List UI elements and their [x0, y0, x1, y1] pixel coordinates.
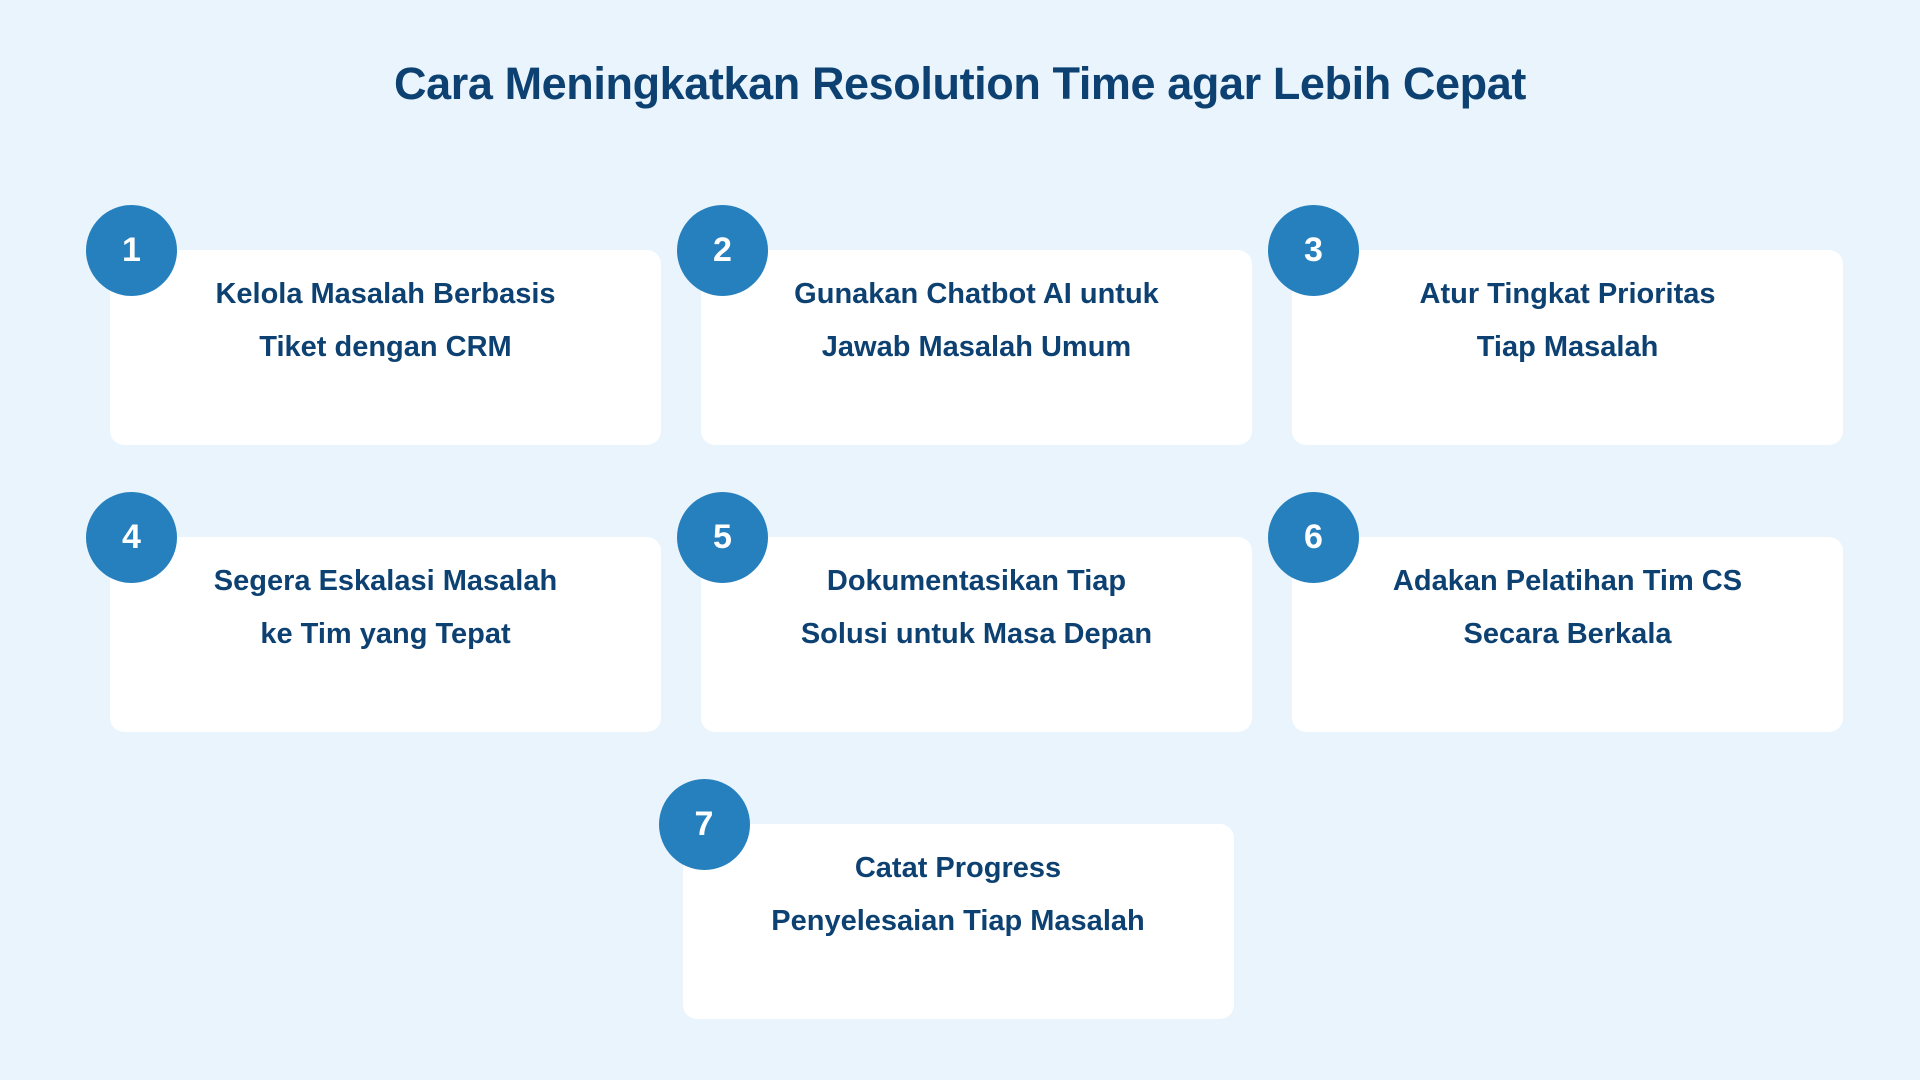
- card-label-line-2: Jawab Masalah Umum: [735, 321, 1218, 374]
- card-number-badge: 6: [1268, 492, 1359, 583]
- card-label-line-1: Gunakan Chatbot AI untuk: [735, 268, 1218, 321]
- card-label: Atur Tingkat Prioritas Tiap Masalah: [1292, 268, 1843, 374]
- card-label-line-1: Kelola Masalah Berbasis: [144, 268, 627, 321]
- card-number-badge: 1: [86, 205, 177, 296]
- card-number-badge: 2: [677, 205, 768, 296]
- card-label-line-1: Segera Eskalasi Masalah: [144, 555, 627, 608]
- card-item-4[interactable]: 4 Segera Eskalasi Masalah ke Tim yang Te…: [110, 492, 661, 732]
- card-label-line-2: Secara Berkala: [1326, 608, 1809, 661]
- cards-row-2: 4 Segera Eskalasi Masalah ke Tim yang Te…: [0, 492, 1920, 732]
- card-label: Kelola Masalah Berbasis Tiket dengan CRM: [110, 268, 661, 374]
- card-item-6[interactable]: 6 Adakan Pelatihan Tim CS Secara Berkala: [1292, 492, 1843, 732]
- card-label-line-2: ke Tim yang Tepat: [144, 608, 627, 661]
- cards-grid: 1 Kelola Masalah Berbasis Tiket dengan C…: [0, 205, 1920, 1066]
- card-number-badge: 3: [1268, 205, 1359, 296]
- card-label-line-1: Dokumentasikan Tiap: [735, 555, 1218, 608]
- card-item-7[interactable]: 7 Catat Progress Penyelesaian Tiap Masal…: [683, 779, 1234, 1019]
- card-label-line-1: Adakan Pelatihan Tim CS: [1326, 555, 1809, 608]
- infographic-page: Cara Meningkatkan Resolution Time agar L…: [0, 0, 1920, 1080]
- card-label-line-1: Catat Progress: [717, 842, 1200, 895]
- page-title: Cara Meningkatkan Resolution Time agar L…: [0, 58, 1920, 110]
- card-item-5[interactable]: 5 Dokumentasikan Tiap Solusi untuk Masa …: [701, 492, 1252, 732]
- card-item-1[interactable]: 1 Kelola Masalah Berbasis Tiket dengan C…: [110, 205, 661, 445]
- card-label-line-2: Solusi untuk Masa Depan: [735, 608, 1218, 661]
- card-label-line-2: Tiap Masalah: [1326, 321, 1809, 374]
- card-number-badge: 5: [677, 492, 768, 583]
- cards-row-1: 1 Kelola Masalah Berbasis Tiket dengan C…: [0, 205, 1920, 445]
- card-item-3[interactable]: 3 Atur Tingkat Prioritas Tiap Masalah: [1292, 205, 1843, 445]
- card-item-2[interactable]: 2 Gunakan Chatbot AI untuk Jawab Masalah…: [701, 205, 1252, 445]
- card-number-badge: 7: [659, 779, 750, 870]
- card-label-line-2: Penyelesaian Tiap Masalah: [717, 895, 1200, 948]
- card-label-line-2: Tiket dengan CRM: [144, 321, 627, 374]
- card-label-line-1: Atur Tingkat Prioritas: [1326, 268, 1809, 321]
- card-label: Gunakan Chatbot AI untuk Jawab Masalah U…: [701, 268, 1252, 374]
- cards-row-3: 7 Catat Progress Penyelesaian Tiap Masal…: [0, 779, 1920, 1019]
- card-label: Dokumentasikan Tiap Solusi untuk Masa De…: [701, 555, 1252, 661]
- card-number-badge: 4: [86, 492, 177, 583]
- card-label: Catat Progress Penyelesaian Tiap Masalah: [683, 842, 1234, 948]
- card-label: Segera Eskalasi Masalah ke Tim yang Tepa…: [110, 555, 661, 661]
- card-label: Adakan Pelatihan Tim CS Secara Berkala: [1292, 555, 1843, 661]
